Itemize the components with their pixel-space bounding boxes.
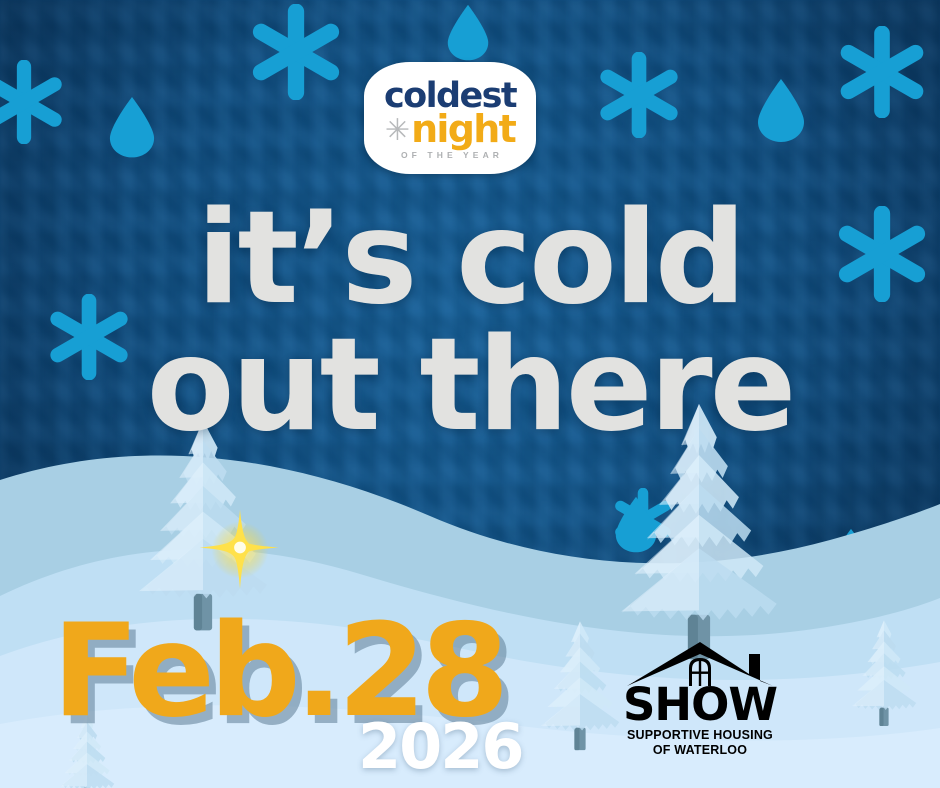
poster-canvas: coldest ✳ night OF THE YEAR it’s cold ou… (0, 0, 940, 788)
logo-tagline: OF THE YEAR (401, 150, 503, 160)
logo-word-night: night (411, 110, 515, 148)
sponsor-subtitle-line-2: OF WATERLOO (627, 743, 773, 757)
raindrop-icon (108, 96, 156, 158)
tree-small-right (838, 612, 930, 738)
sponsor-subtitle: SUPPORTIVE HOUSING OF WATERLOO (627, 728, 773, 757)
snowflake-icon (836, 26, 928, 118)
sponsor-logo[interactable]: SHOW SUPPORTIVE HOUSING OF WATERLOO (618, 642, 782, 754)
logo-night-row: ✳ night (385, 110, 515, 148)
event-date: Feb.28 2026 (52, 608, 503, 736)
coldest-night-logo[interactable]: coldest ✳ night OF THE YEAR (364, 62, 536, 174)
snowflake-icon (596, 52, 682, 138)
raindrop-icon (446, 4, 490, 61)
headline: it’s cold out there (0, 196, 940, 449)
raindrop-icon (756, 78, 806, 143)
headline-line-2: out there (0, 323, 940, 450)
snowflake-icon (248, 4, 344, 100)
sponsor-wordmark: SHOW (623, 684, 777, 725)
star-sparkle-icon (198, 508, 282, 592)
event-date-year: 2026 (358, 716, 523, 778)
snowflake-icon (0, 60, 66, 144)
sponsor-subtitle-line-1: SUPPORTIVE HOUSING (627, 728, 773, 742)
asterisk-snowflake-icon: ✳ (385, 122, 410, 140)
